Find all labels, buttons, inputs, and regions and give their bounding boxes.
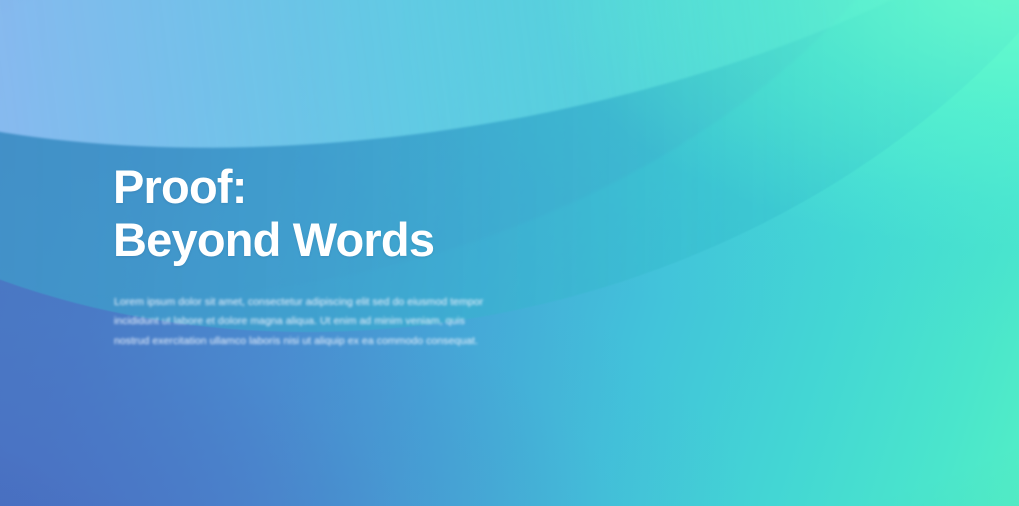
title-slide: Proof: Beyond Words Lorem ipsum dolor si… (0, 0, 1019, 506)
page-title-line-1: Proof: (113, 160, 733, 213)
page-title: Proof: Beyond Words (113, 160, 733, 266)
slide-content: Proof: Beyond Words Lorem ipsum dolor si… (113, 160, 733, 351)
page-title-line-2: Beyond Words (113, 213, 733, 266)
body-paragraph: Lorem ipsum dolor sit amet, consectetur … (114, 293, 486, 351)
